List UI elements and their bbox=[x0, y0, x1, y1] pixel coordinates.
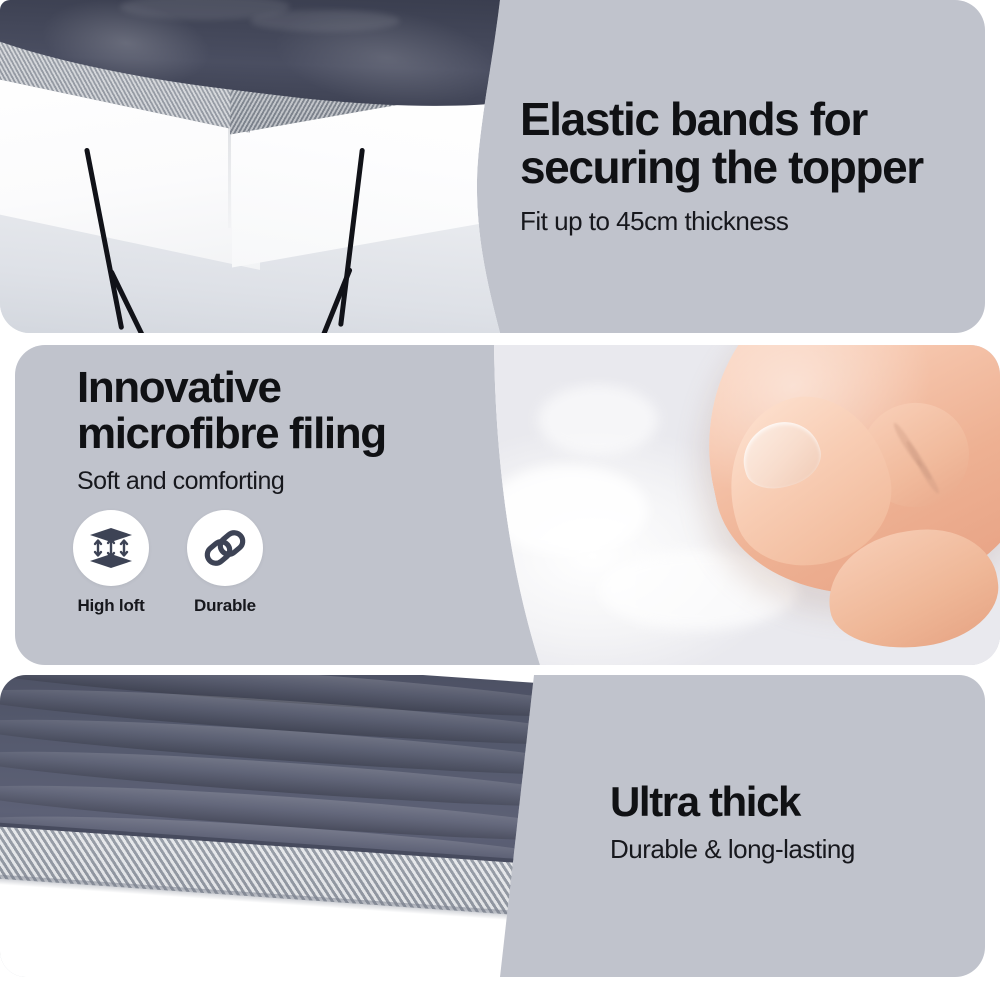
feature-subline: Soft and comforting bbox=[77, 467, 477, 496]
product-photo-mattress-corner bbox=[0, 0, 500, 333]
feature-subline: Fit up to 45cm thickness bbox=[520, 206, 970, 237]
feature-text-block: Innovative microfibre filing Soft and co… bbox=[77, 365, 477, 496]
feature-headline-line2: microfibre filing bbox=[77, 411, 477, 457]
feature-panel-elastic-bands: Elastic bands for securing the topper Fi… bbox=[0, 0, 985, 333]
badge-label: Durable bbox=[194, 596, 256, 616]
feature-subline: Durable & long-lasting bbox=[610, 834, 970, 865]
chain-link-icon bbox=[201, 524, 249, 572]
badge-label: High loft bbox=[77, 596, 144, 616]
infographic-canvas: Elastic bands for securing the topper Fi… bbox=[0, 0, 1000, 1000]
fibre-wisp bbox=[538, 385, 658, 455]
feature-headline-line1: Ultra thick bbox=[610, 780, 970, 824]
badge-durable: Durable bbox=[187, 510, 263, 616]
feature-text-block: Elastic bands for securing the topper Fi… bbox=[520, 96, 970, 237]
feature-headline-line1: Innovative bbox=[77, 365, 477, 411]
product-photo-quilted-topper bbox=[0, 675, 560, 977]
badge-circle bbox=[187, 510, 263, 586]
feature-headline-line1: Elastic bands for bbox=[520, 96, 970, 144]
fibre-wisp bbox=[488, 465, 648, 555]
product-photo-microfibre-fill bbox=[478, 345, 1000, 665]
badge-circle bbox=[73, 510, 149, 586]
feature-badge-list: High loft Durable bbox=[73, 510, 263, 616]
feature-panel-microfibre-filling: Innovative microfibre filing Soft and co… bbox=[15, 345, 1000, 665]
topper-fold bbox=[250, 10, 400, 32]
badge-high-loft: High loft bbox=[73, 510, 149, 616]
feature-headline-line2: securing the topper bbox=[520, 144, 970, 192]
feature-panel-ultra-thick: Ultra thick Durable & long-lasting bbox=[0, 675, 985, 977]
high-loft-icon bbox=[87, 524, 135, 572]
feature-text-block: Ultra thick Durable & long-lasting bbox=[610, 780, 970, 865]
